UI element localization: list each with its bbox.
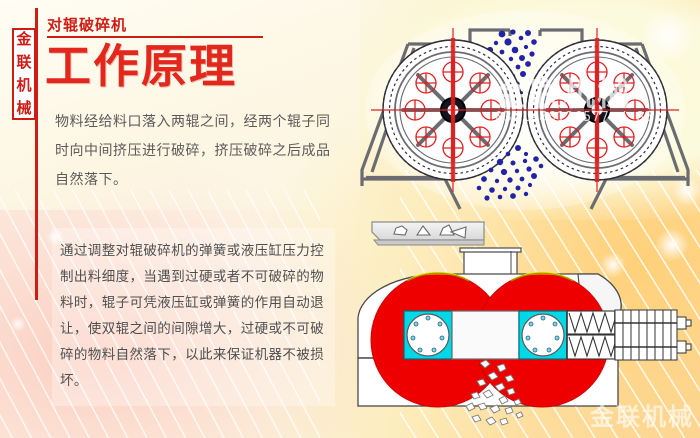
- gap-adjuster: [452, 311, 519, 359]
- spring-assembly: [567, 311, 617, 359]
- bottom-right-watermark: 金联机械: [590, 397, 694, 432]
- infographic-canvas: 金 联 机 械 对辊破碎机 工作原理 物料经给料口落入两辊之间，经两个辊子同时向…: [0, 0, 700, 438]
- paragraph-pressure-control: 通过调整对辊破碎机的弹簧或液压缸压力控制出料细度，当遇到过硬或者不可破碎的物料时…: [60, 238, 332, 394]
- feed-hopper: [460, 248, 521, 275]
- header-horizontal-rule: [47, 36, 263, 38]
- bearing-right: [519, 311, 567, 359]
- diagram-roller-crusher-cutaway: [350, 2, 700, 216]
- brand-logo-badge: 金 联 机 械: [12, 28, 36, 120]
- bearing-left: [404, 311, 452, 359]
- feed-chute: [372, 222, 484, 245]
- logo-char-2: 联: [16, 55, 31, 70]
- page-subtitle: 对辊破碎机: [47, 14, 127, 35]
- page-title: 工作原理: [45, 40, 237, 92]
- logo-char-4: 械: [16, 101, 31, 116]
- tension-rod-bank: [615, 310, 691, 360]
- logo-char-1: 金: [16, 32, 31, 47]
- paragraph-working-principle: 物料经给料口落入两辊之间，经两个辊子同时向中间挤压进行破碎，挤压破碎之后成品自然…: [55, 108, 340, 195]
- logo-char-3: 机: [16, 78, 31, 93]
